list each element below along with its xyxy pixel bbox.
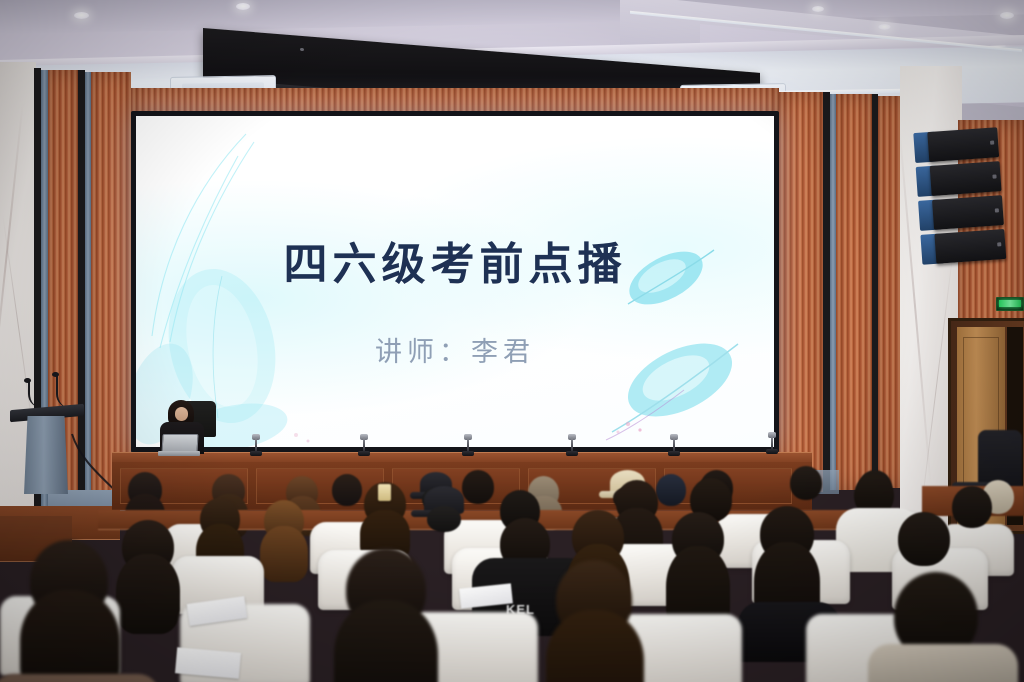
speaker-led-icon xyxy=(997,242,1001,246)
ceiling-downlight xyxy=(878,24,891,30)
head xyxy=(790,466,822,500)
wall-slat-panel xyxy=(836,94,872,490)
microphone-stem xyxy=(363,437,365,452)
hair-clip xyxy=(378,484,391,501)
microphone-head-icon xyxy=(52,372,59,377)
hair xyxy=(116,554,180,634)
microphone-base xyxy=(766,449,778,454)
presenter xyxy=(152,396,224,456)
line-array-speaker xyxy=(913,125,1007,273)
microphone-base xyxy=(668,451,680,456)
wall-slat-panel xyxy=(779,92,823,492)
ceiling-downlight xyxy=(1000,12,1014,19)
valance-screw xyxy=(300,48,304,51)
head xyxy=(898,512,950,566)
head xyxy=(462,470,494,504)
desk-microphone xyxy=(462,434,474,456)
slide-title: 四六级考前点播 xyxy=(136,228,774,292)
microphone-stem xyxy=(673,437,675,452)
ceiling-downlight xyxy=(74,12,89,19)
microphone-base xyxy=(462,451,474,456)
presenter-laptop xyxy=(158,434,200,456)
ceiling-downlight xyxy=(812,6,824,12)
microphone-base xyxy=(250,451,262,456)
wall-slat-panel xyxy=(878,96,902,488)
microphone-base xyxy=(566,451,578,456)
presenter-face xyxy=(175,407,188,421)
hair xyxy=(20,590,120,682)
microphone-stem xyxy=(467,437,469,452)
head xyxy=(952,486,992,528)
speaker-module xyxy=(927,127,999,162)
slide-subtitle: 讲师：李君 xyxy=(136,330,774,369)
led-screen-frame: 四六级考前点播 讲师：李君 xyxy=(131,111,779,452)
desk-microphone xyxy=(566,434,578,456)
speaker-led-icon xyxy=(990,140,994,144)
head xyxy=(332,474,362,506)
speaker-module xyxy=(932,195,1004,230)
ceiling-downlight xyxy=(236,3,250,10)
speaker-module xyxy=(934,229,1006,264)
microphone-stem xyxy=(255,437,257,452)
lectern-microphone xyxy=(56,375,74,408)
speaker-led-icon xyxy=(992,174,996,178)
desk-microphone xyxy=(668,434,680,456)
desk-microphone xyxy=(250,434,262,456)
head xyxy=(427,506,461,532)
head xyxy=(656,474,686,506)
torso xyxy=(0,674,160,682)
speaker-module xyxy=(930,161,1002,196)
microphone-stem xyxy=(571,437,573,452)
desk-microphone xyxy=(358,434,370,456)
handout-paper xyxy=(175,647,241,678)
exit-sign xyxy=(996,297,1024,311)
presentation-slide: 四六级考前点播 讲师：李君 xyxy=(136,116,774,447)
lecture-hall-photo: 四六级考前点播 讲师：李君 xyxy=(0,0,1024,682)
torso xyxy=(868,644,1018,682)
laptop-keyboard xyxy=(158,451,200,456)
desk-microphone xyxy=(766,432,778,454)
hair xyxy=(260,526,308,582)
microphone-head-icon xyxy=(24,378,31,383)
microphone-stem xyxy=(771,435,773,450)
microphone-base xyxy=(358,451,370,456)
speaker-led-icon xyxy=(995,208,999,212)
wall-reveal xyxy=(823,92,830,492)
